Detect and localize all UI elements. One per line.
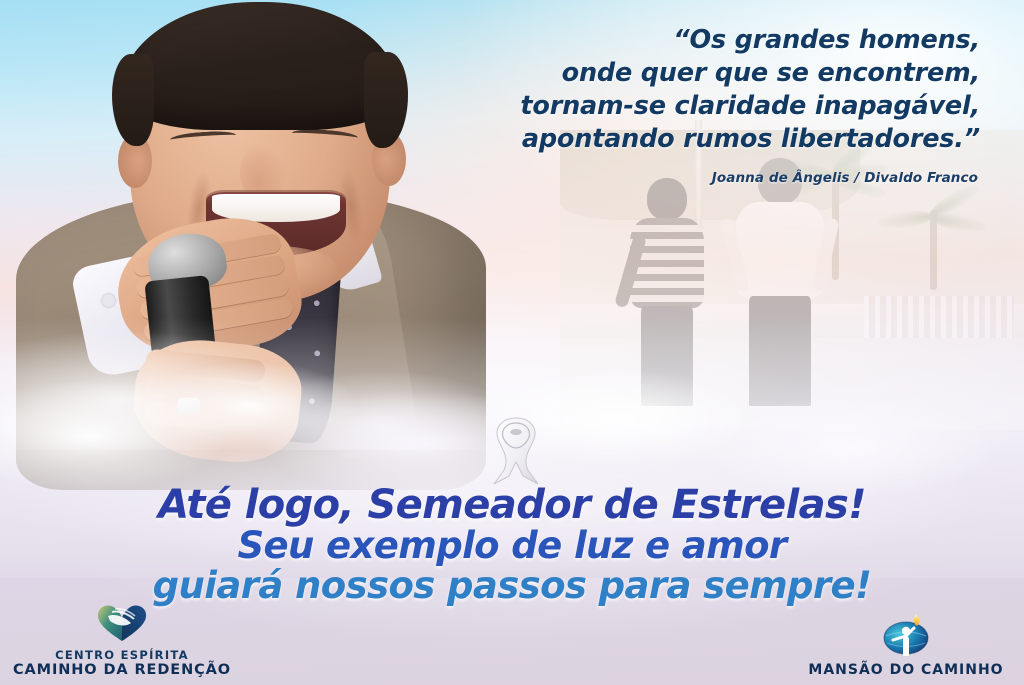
headline-line-1: Até logo, Semeador de Estrelas! bbox=[0, 484, 1024, 526]
quote-line-2: onde quer que se encontrem, bbox=[420, 57, 980, 90]
logo-centro-espirita-line2: CAMINHO DA REDENÇÃO bbox=[10, 662, 234, 679]
portrait-ring bbox=[178, 398, 200, 414]
headline-line-2: Seu exemplo de luz e amor bbox=[0, 526, 1024, 566]
scene-figure-adult bbox=[736, 158, 824, 406]
logo-mansao-line2: MANSÃO DO CAMINHO bbox=[794, 662, 1018, 679]
quote-line-4: apontando rumos libertadores.” bbox=[420, 123, 980, 156]
quote-line-1: “Os grandes homens, bbox=[420, 24, 980, 57]
headline-block: Até logo, Semeador de Estrelas! Seu exem… bbox=[0, 484, 1024, 606]
heart-hands-icon bbox=[10, 603, 234, 647]
logo-centro-espirita[interactable]: CENTRO ESPÍRITA CAMINHO DA REDENÇÃO bbox=[10, 603, 234, 679]
mourning-ribbon-icon bbox=[482, 412, 550, 486]
scene-figure-child bbox=[630, 178, 704, 406]
quote-line-3: tornam-se claridade inapagável, bbox=[420, 90, 980, 123]
portrait-hair bbox=[120, 2, 400, 130]
globe-flame-icon bbox=[794, 614, 1018, 660]
portrait-cuff-button bbox=[102, 294, 115, 307]
logo-mansao-do-caminho[interactable]: MANSÃO DO CAMINHO bbox=[794, 614, 1018, 679]
headline-line-3: guiará nossos passos para sempre! bbox=[0, 566, 1024, 606]
scene-fence bbox=[864, 296, 1014, 342]
quote-attribution: Joanna de Ângelis / Divaldo Franco bbox=[418, 170, 978, 186]
quote-text: “Os grandes homens, onde quer que se enc… bbox=[420, 24, 980, 156]
memorial-poster: “Os grandes homens, onde quer que se enc… bbox=[0, 0, 1024, 685]
logo-centro-espirita-line1: CENTRO ESPÍRITA bbox=[10, 649, 234, 662]
